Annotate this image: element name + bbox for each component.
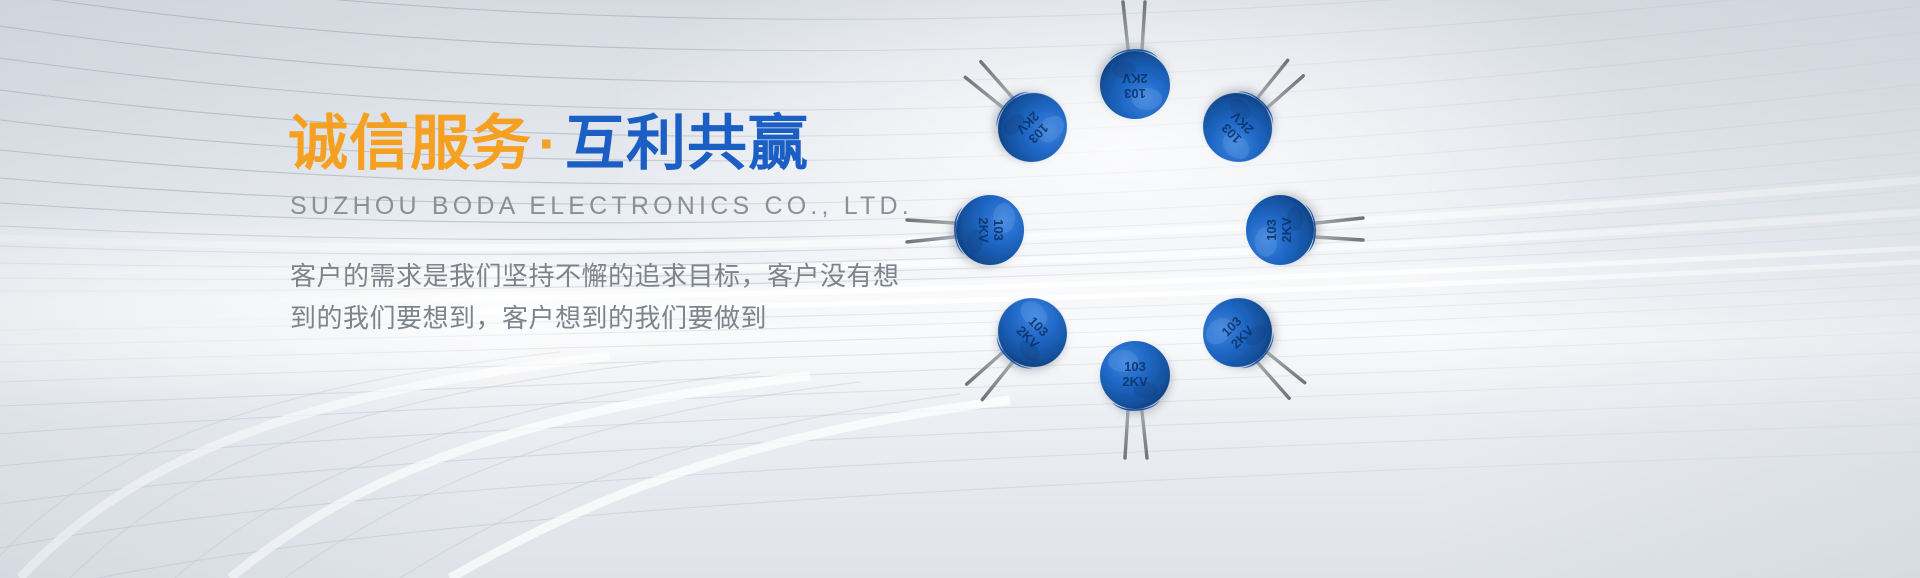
company-subtitle: SUZHOU BODA ELECTRONICS CO., LTD.	[290, 192, 948, 221]
svg-text:103: 103	[1264, 219, 1279, 241]
cap-marking-2kv: 2KV	[1122, 71, 1148, 86]
page-title: 诚信服务·互利共赢	[288, 112, 948, 176]
hero-banner: 诚信服务·互利共赢 SUZHOU BODA ELECTRONICS CO., L…	[0, 0, 1920, 578]
banner-text-block: 诚信服务·互利共赢 SUZHOU BODA ELECTRONICS CO., L…	[288, 112, 948, 339]
cap-marking-103: 103	[1124, 86, 1146, 101]
description-line-1: 客户的需求是我们坚持不懈的追求目标，客户没有想	[290, 255, 915, 297]
svg-text:2KV: 2KV	[1279, 217, 1294, 243]
headline-part-a: 诚信服务	[288, 110, 532, 177]
headline-separator-dot: ·	[532, 110, 565, 177]
description-line-2: 到的我们要想到，客户想到的我们要做到	[290, 297, 915, 339]
svg-text:2KV: 2KV	[1122, 374, 1148, 389]
headline-part-b: 互利共赢	[565, 110, 809, 177]
banner-description: 客户的需求是我们坚持不懈的追求目标，客户没有想 到的我们要想到，客户想到的我们要…	[290, 255, 915, 339]
svg-text:103: 103	[991, 219, 1006, 241]
svg-text:2KV: 2KV	[976, 217, 991, 243]
product-image-capacitor-ring: 103 2KV 1032KV 1032KV	[900, 0, 1370, 578]
svg-text:103: 103	[1124, 359, 1146, 374]
